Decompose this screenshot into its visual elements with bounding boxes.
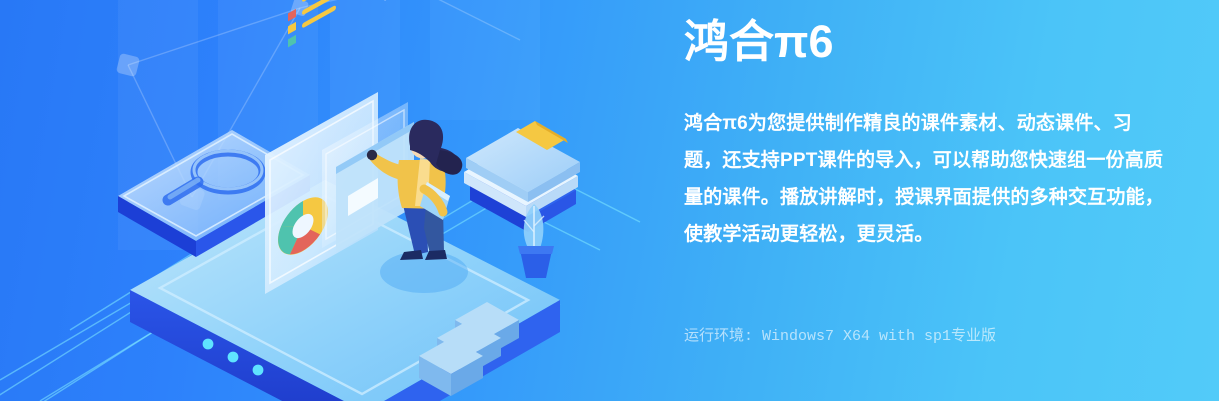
product-banner: 鸿合π6 鸿合π6为您提供制作精良的课件素材、动态课件、习 题，还支持PPT课件… (0, 0, 1219, 401)
description-line: 量的课件。播放讲解时，授课界面提供的多种交互功能， (684, 179, 1192, 216)
banner-content: 鸿合π6 鸿合π6为您提供制作精良的课件素材、动态课件、习 题，还支持PPT课件… (684, 0, 1204, 401)
page-title: 鸿合π6 (684, 13, 833, 71)
chart-legend-rows (288, 0, 338, 47)
system-requirements: 运行环境: Windows7 X64 with sp1专业版 Windows10… (684, 274, 996, 401)
description-line: 题，还支持PPT课件的导入，可以帮助您快速组一份高质 (684, 142, 1192, 179)
product-description: 鸿合π6为您提供制作精良的课件素材、动态课件、习 题，还支持PPT课件的导入，可… (684, 105, 1192, 253)
description-line: 鸿合π6为您提供制作精良的课件素材、动态课件、习 (684, 105, 1192, 142)
requirements-line-1: 运行环境: Windows7 X64 with sp1专业版 (684, 324, 996, 349)
book-stack (464, 121, 580, 232)
description-line: 使教学活动更轻松，更灵活。 (684, 216, 1192, 253)
illustration-svg (0, 0, 660, 401)
hero-illustration (0, 0, 660, 401)
